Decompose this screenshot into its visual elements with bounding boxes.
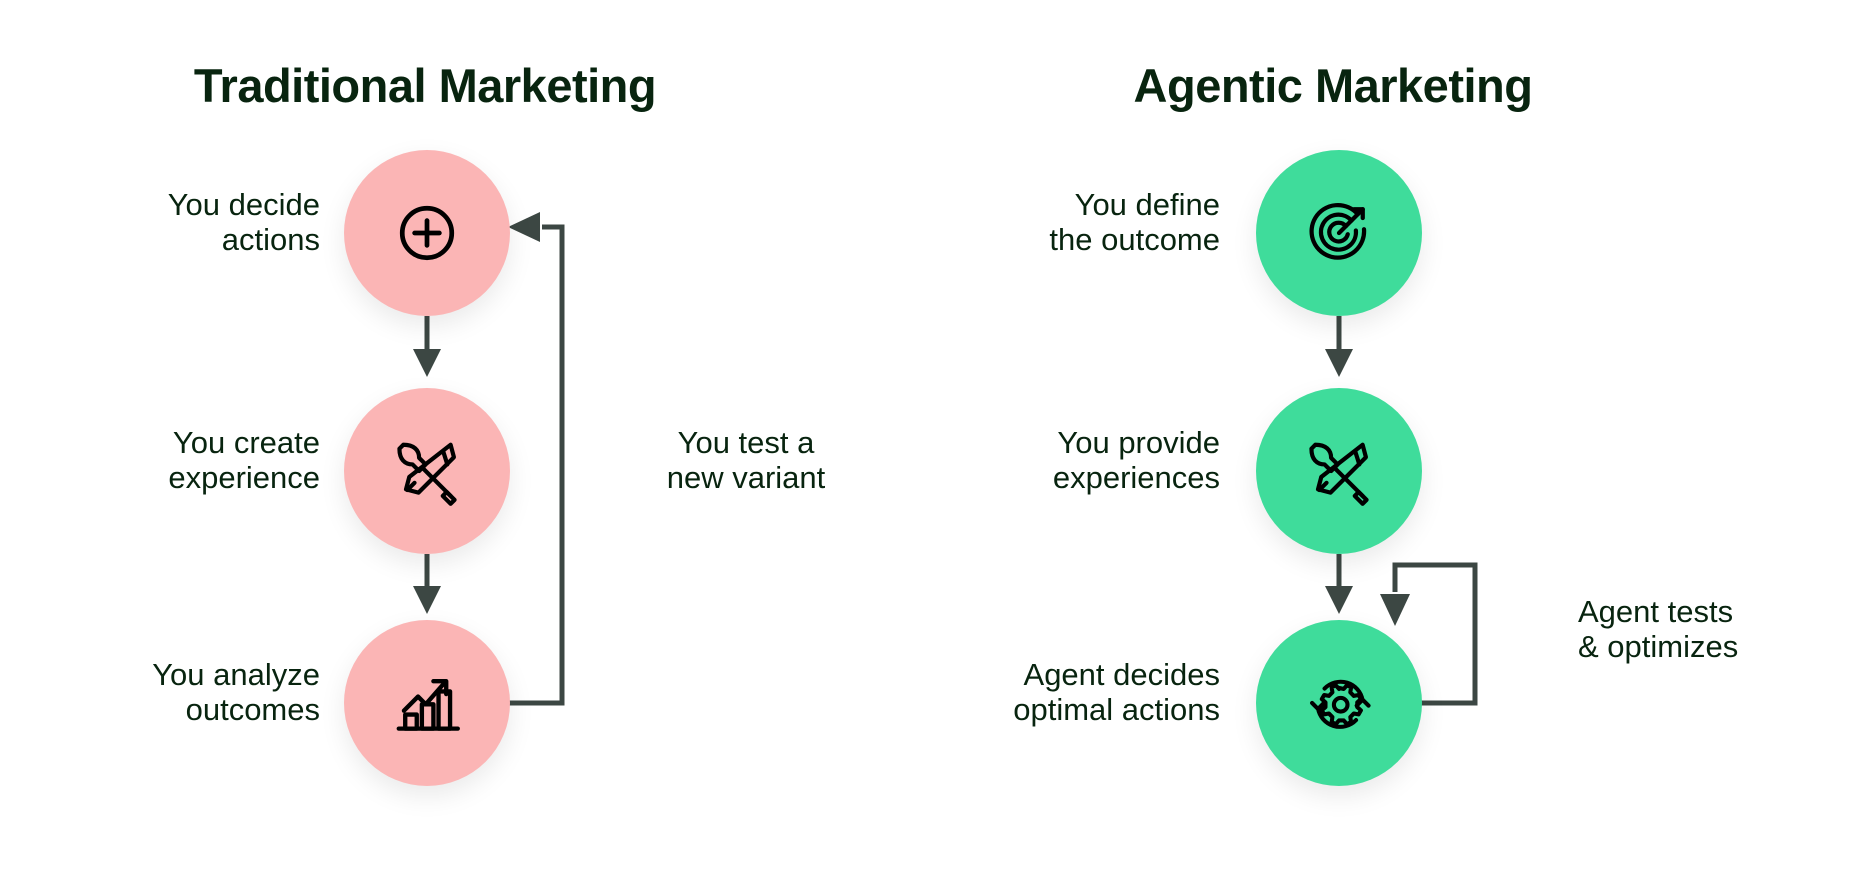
node-agentic-step-2[interactable]	[1256, 388, 1422, 554]
arrow-traditional-2-to-3	[413, 554, 441, 614]
step-label-agentic-3: Agent decides optimal actions	[890, 658, 1220, 727]
column-title-traditional: Traditional Marketing	[140, 62, 710, 109]
column-title-agentic: Agentic Marketing	[1088, 62, 1578, 109]
step-label-traditional-3: You analyze outcomes	[20, 658, 320, 727]
brush-pencil-icon	[385, 429, 469, 513]
step-label-traditional-1: You decide actions	[20, 188, 320, 257]
brush-pencil-icon	[1297, 429, 1381, 513]
diagram-canvas: Traditional Marketing Agentic Marketing	[0, 0, 1872, 870]
arrow-agentic-2-to-3	[1325, 554, 1353, 614]
node-traditional-step-3[interactable]	[344, 620, 510, 786]
step-label-agentic-1: You define the outcome	[930, 188, 1220, 257]
loop-caption-traditional: You test a new variant	[616, 426, 876, 495]
node-traditional-step-2[interactable]	[344, 388, 510, 554]
node-agentic-step-3[interactable]	[1256, 620, 1422, 786]
bar-chart-growth-icon	[386, 662, 468, 744]
arrow-agentic-1-to-2	[1325, 316, 1353, 377]
node-agentic-step-1[interactable]	[1256, 150, 1422, 316]
node-traditional-step-1[interactable]	[344, 150, 510, 316]
gear-refresh-icon	[1297, 661, 1381, 745]
target-arrow-icon	[1299, 193, 1379, 273]
step-label-traditional-2: You create experience	[20, 426, 320, 495]
plus-circle-icon	[391, 197, 463, 269]
arrow-traditional-1-to-2	[413, 316, 441, 377]
step-label-agentic-2: You provide experiences	[930, 426, 1220, 495]
loop-caption-agentic: Agent tests & optimizes	[1578, 595, 1868, 664]
